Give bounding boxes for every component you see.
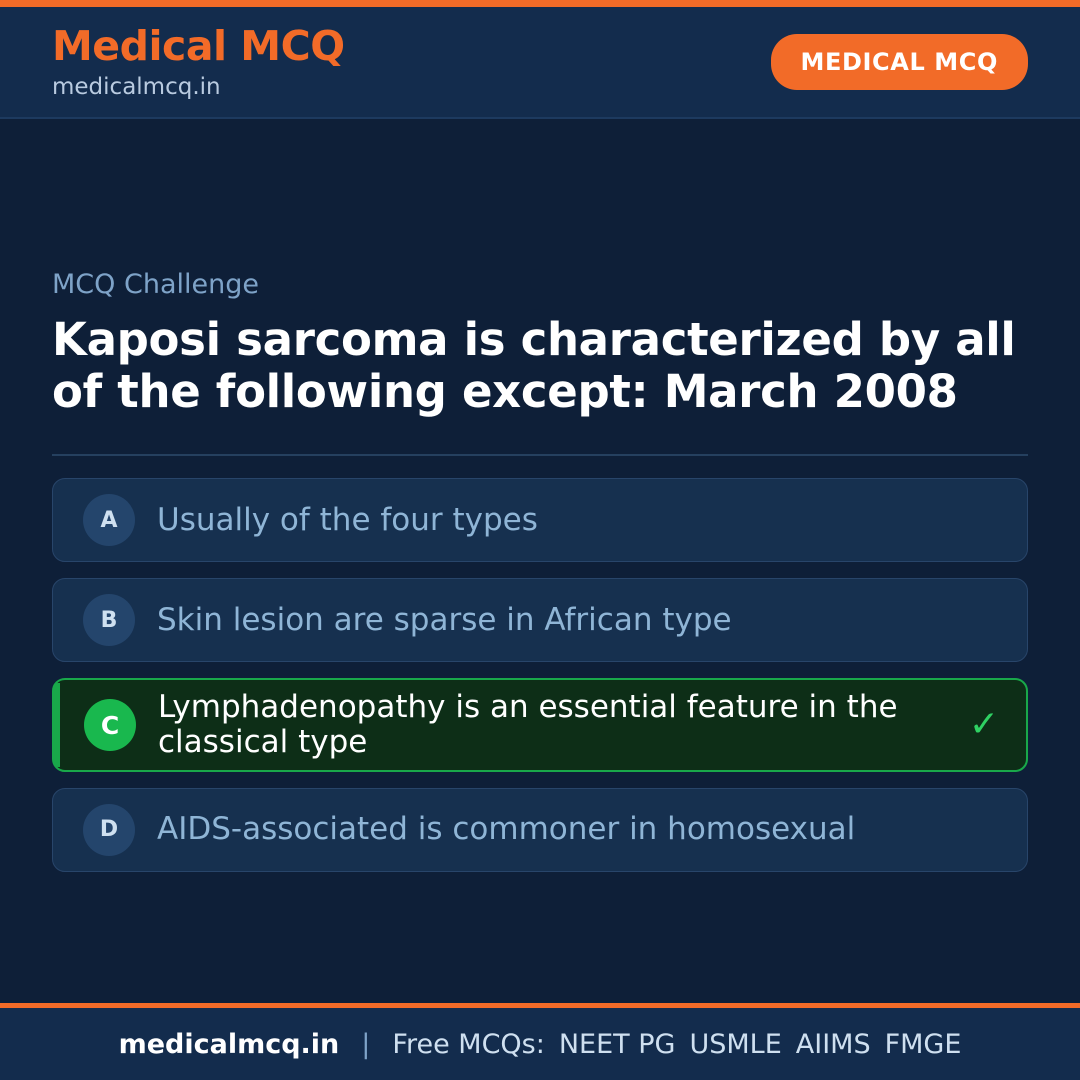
option-b-letter: B [83, 594, 135, 646]
kicker-label: MCQ Challenge [52, 269, 1028, 300]
option-d-text: AIDS-associated is commoner in homosexua… [157, 812, 965, 847]
option-c[interactable]: C Lymphadenopathy is an essential featur… [52, 678, 1028, 771]
top-accent-rule [0, 0, 1080, 7]
option-b[interactable]: B Skin lesion are sparse in African type [52, 578, 1028, 662]
brand-block: Medical MCQ medicalmcq.in [52, 25, 345, 102]
page-footer: medicalmcq.in | Free MCQs: NEET PG USMLE… [0, 1008, 1080, 1080]
brand-title: Medical MCQ [52, 25, 345, 68]
footer-site: medicalmcq.in [119, 1029, 340, 1060]
option-c-letter: C [84, 699, 136, 751]
brand-badge: MEDICAL MCQ [771, 34, 1028, 90]
footer-exam-fmge: FMGE [885, 1029, 962, 1060]
footer-separator: | [361, 1029, 370, 1060]
poster-root: Medical MCQ medicalmcq.in MEDICAL MCQ MC… [0, 0, 1080, 1080]
options-list: A Usually of the four types B Skin lesio… [52, 478, 1028, 871]
page-header: Medical MCQ medicalmcq.in MEDICAL MCQ [0, 7, 1080, 119]
brand-subtitle: medicalmcq.in [52, 74, 345, 102]
option-a-letter: A [83, 494, 135, 546]
footer-exam-usmle: USMLE [689, 1029, 781, 1060]
option-a-text: Usually of the four types [157, 503, 965, 538]
main-content: MCQ Challenge Kaposi sarcoma is characte… [0, 119, 1080, 1003]
section-divider [52, 454, 1028, 456]
page-title: Kaposi sarcoma is characterized by all o… [52, 314, 1028, 418]
option-d[interactable]: D AIDS-associated is commoner in homosex… [52, 788, 1028, 872]
footer-label: Free MCQs: [392, 1029, 544, 1060]
option-c-text: Lymphadenopathy is an essential feature … [158, 690, 964, 759]
option-d-letter: D [83, 804, 135, 856]
option-b-text: Skin lesion are sparse in African type [157, 603, 965, 638]
check-icon: ✓ [964, 707, 1004, 743]
option-a[interactable]: A Usually of the four types [52, 478, 1028, 562]
footer-exam-aiims: AIIMS [796, 1029, 871, 1060]
footer-exam-neetpg: NEET PG [559, 1029, 676, 1060]
